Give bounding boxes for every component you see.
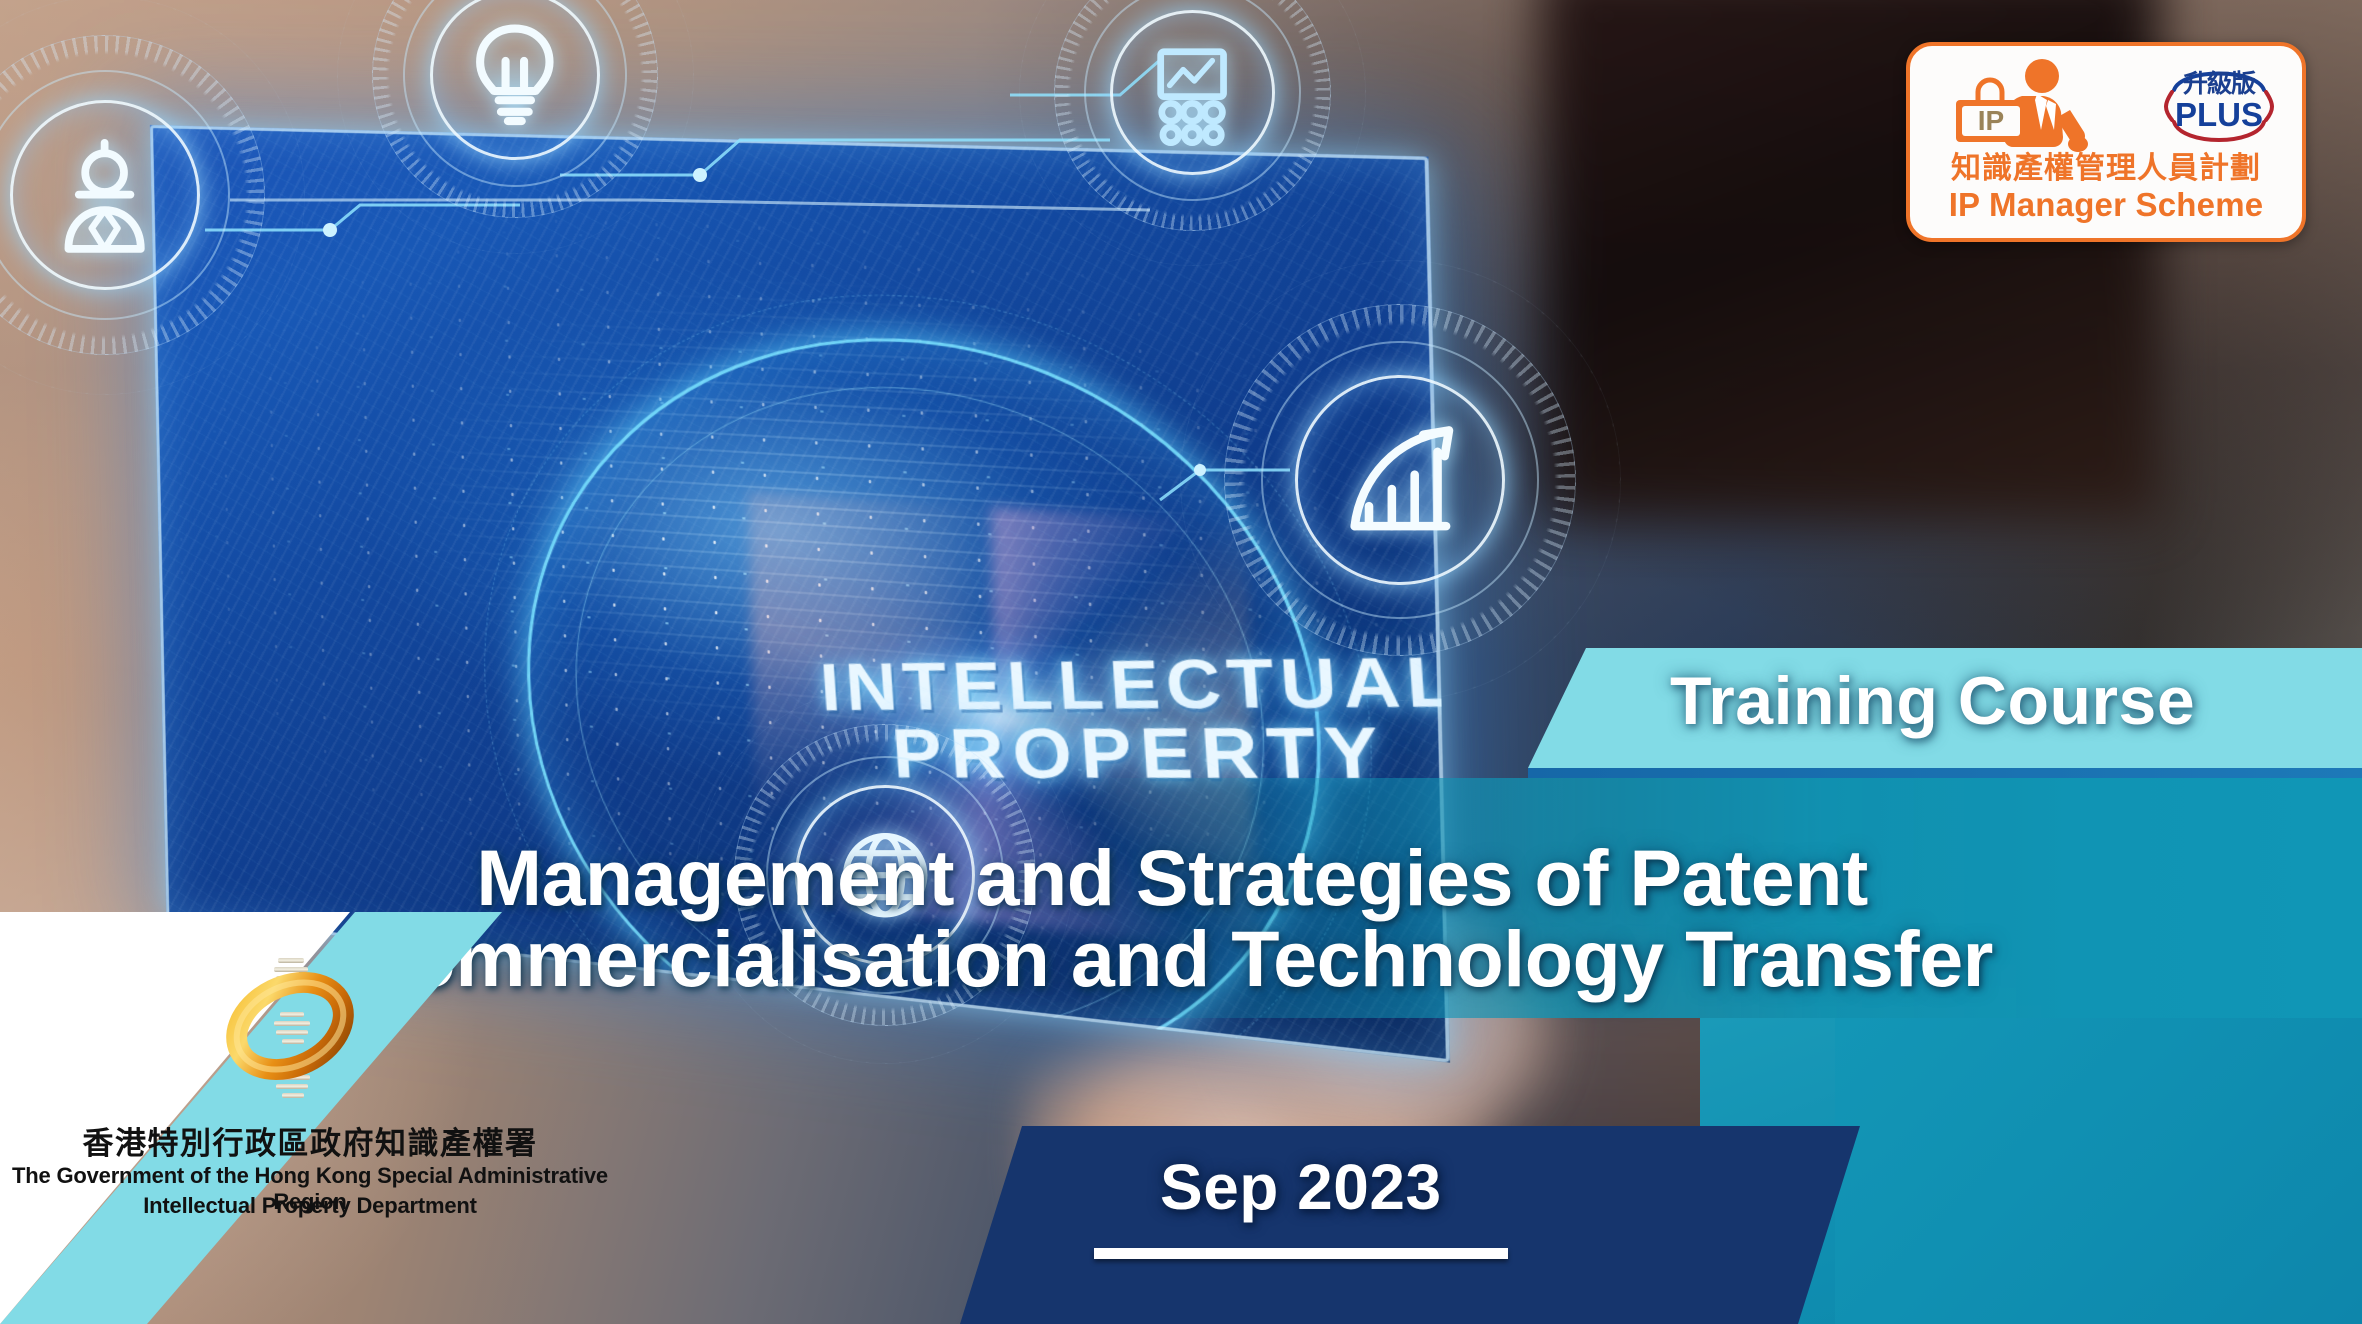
- course-title-line1: Management and Strategies of Patent: [0, 838, 2344, 919]
- badge-scheme-english: IP Manager Scheme: [1920, 187, 2292, 223]
- svg-text:IP: IP: [1978, 105, 2004, 136]
- person-businessman-icon: [40, 130, 169, 259]
- growth-bar-chart-icon: [1329, 409, 1472, 552]
- bottom-teal-right: [1835, 1018, 2362, 1324]
- plus-upgrade-seal: 升級版 PLUS: [2156, 56, 2282, 156]
- hud-circle-growth: [1295, 375, 1505, 585]
- badge-plus-chinese: 升級版: [2156, 64, 2282, 100]
- calculator-analytics-icon: [1136, 36, 1248, 148]
- course-date: Sep 2023: [1160, 1150, 1442, 1224]
- department-name-english-2: Intellectual Property Department: [0, 1193, 620, 1219]
- hud-circle-person: [10, 100, 200, 290]
- ipd-ring-helix-logo: [200, 948, 380, 1118]
- hud-circle-analytics: [1110, 10, 1275, 175]
- department-name-chinese: 香港特別行政區政府知識產權署: [0, 1118, 620, 1163]
- badge-graphics-row: IP 升級版 PLUS: [1920, 54, 2292, 158]
- lightbulb-icon: [457, 17, 573, 133]
- ip-manager-scheme-badge: IP 升級版 PLUS: [1906, 42, 2306, 242]
- training-course-label: Training Course: [1670, 662, 2195, 740]
- badge-plus-english: PLUS: [2156, 96, 2282, 134]
- poster-root: INTELLECTUAL PROPERTY: [0, 0, 2362, 1324]
- hud-circle-bulb: [430, 0, 600, 160]
- training-course-band: Training Course: [1528, 648, 2362, 768]
- date-underline-rule: [1094, 1248, 1508, 1259]
- ip-briefcase-person-icon: IP: [1938, 56, 2114, 156]
- badge-scheme-chinese: 知識產權管理人員計劃: [1920, 154, 2292, 184]
- training-course-underline: [1528, 768, 2362, 778]
